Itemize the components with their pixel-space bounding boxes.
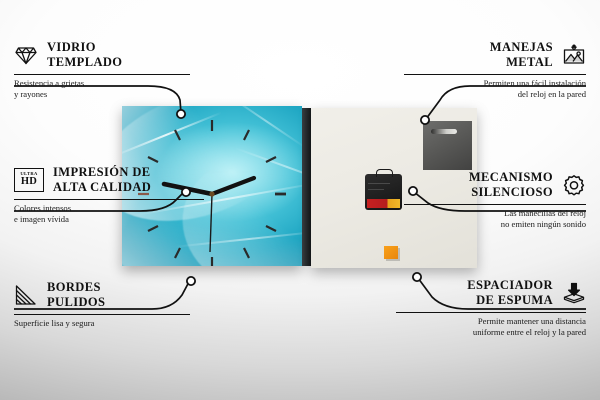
feature-heading: ultra HD IMPRESIÓN DE ALTA CALIDAD: [14, 165, 204, 195]
feature-title: ESPACIADOR DE ESPUMA: [467, 278, 553, 308]
feature-title: VIDRIO TEMPLADO: [47, 40, 122, 70]
mechanism-detail: [368, 183, 390, 184]
polished-edge-icon: [14, 284, 38, 306]
feature-title: MANEJAS METAL: [490, 40, 553, 70]
feature-description: Permiten una fácil instalación del reloj…: [404, 78, 586, 101]
feature-heading: VIDRIO TEMPLADO: [14, 40, 190, 70]
divider: [14, 74, 190, 75]
feature-manejas-metal: MANEJAS METAL Permiten una fácil instala…: [404, 40, 586, 101]
feature-bordes-pulidos: BORDES PULIDOS Superficie lisa y segura: [14, 280, 190, 329]
divider: [14, 314, 190, 315]
foam-spacer-icon: [562, 282, 586, 304]
clock-second-hand: [210, 194, 212, 252]
feature-vidrio-templado: VIDRIO TEMPLADO Resistencia a grietas y …: [14, 40, 190, 101]
feature-heading: BORDES PULIDOS: [14, 280, 190, 310]
feature-description: Las manecillas del reloj no emiten ningú…: [404, 208, 586, 231]
infographic-canvas: VIDRIO TEMPLADO Resistencia a grietas y …: [0, 0, 600, 400]
feature-title: MECANISMO SILENCIOSO: [469, 170, 553, 200]
foam-spacer-pad: [384, 246, 398, 259]
feature-description: Colores intensos e imagen vívida: [14, 203, 204, 226]
ultra-hd-icon-main: HD: [21, 177, 37, 188]
feature-description: Resistencia a grietas y rayones: [14, 78, 190, 101]
diamond-icon: [14, 44, 38, 66]
mechanism-label-strip: [367, 199, 400, 208]
feature-impresion-alta-calidad: ultra HD IMPRESIÓN DE ALTA CALIDAD Color…: [14, 165, 204, 226]
feature-title: IMPRESIÓN DE ALTA CALIDAD: [53, 165, 151, 195]
gear-icon: [562, 174, 586, 196]
feature-title: BORDES PULIDOS: [47, 280, 105, 310]
feature-mecanismo-silencioso: MECANISMO SILENCIOSO Las manecillas del …: [404, 170, 586, 231]
feature-heading: MANEJAS METAL: [404, 40, 586, 70]
metal-hanger-plate: [423, 121, 472, 170]
mechanism-detail: [368, 189, 384, 190]
clock-side-edge: [302, 108, 311, 266]
divider: [14, 199, 204, 200]
feature-heading: ESPACIADOR DE ESPUMA: [396, 278, 586, 308]
feature-description: Permite mantener una distancia uniforme …: [396, 316, 586, 339]
mechanism-hanger-tab: [376, 169, 393, 177]
divider: [404, 204, 586, 205]
ultra-hd-icon: ultra HD: [14, 168, 44, 192]
feature-heading: MECANISMO SILENCIOSO: [404, 170, 586, 200]
divider: [396, 312, 586, 313]
picture-frame-icon: [562, 44, 586, 66]
hanger-slot: [431, 129, 457, 134]
feature-description: Superficie lisa y segura: [14, 318, 190, 329]
clock-center-cap: [209, 191, 214, 196]
clock-minute-hand: [212, 178, 254, 194]
clock-mechanism-box: [365, 174, 402, 210]
divider: [404, 74, 586, 75]
feature-espaciador-espuma: ESPACIADOR DE ESPUMA Permite mantener un…: [396, 278, 586, 339]
